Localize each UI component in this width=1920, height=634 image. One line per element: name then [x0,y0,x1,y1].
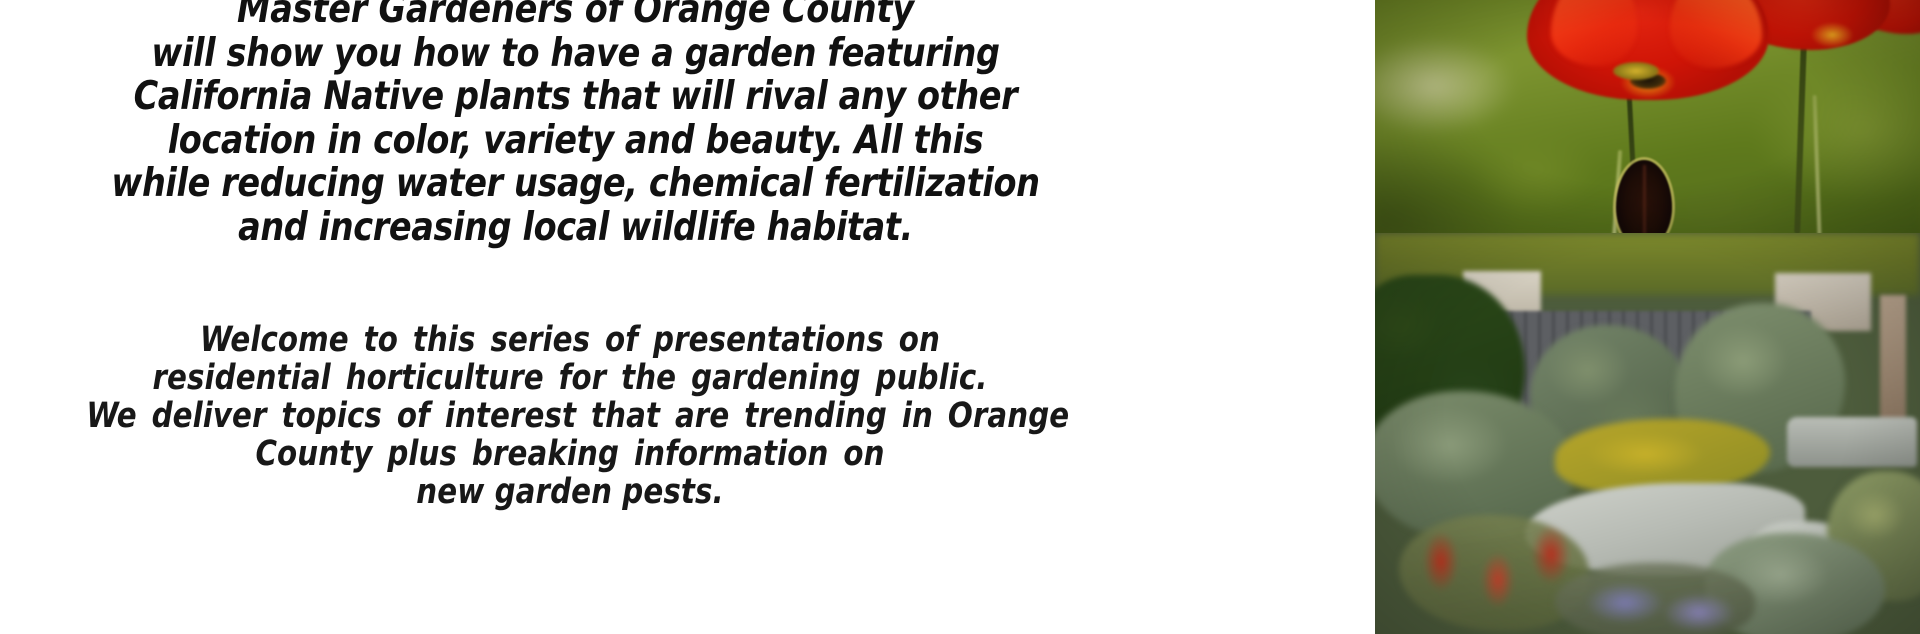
headline-line-4: location in color, variety and beauty. A… [62,119,1089,163]
headline-line-6: and increasing local wildlife habitat. [62,206,1089,250]
poppy-vignette [1375,0,1920,233]
slide-text-column: Master Gardeners of Orange County will s… [0,0,1130,634]
subtext-line-3: We deliver topics of interest that are t… [86,397,1053,435]
subtext-line-4: County plus breaking information on [86,435,1053,473]
headline-line-2: will show you how to have a garden featu… [62,32,1089,76]
subtext-block: Welcome to this series of presentations … [86,321,1053,511]
subtext-line-5: new garden pests. [86,473,1053,511]
garden-vignette [1375,233,1920,634]
presentation-slide: Master Gardeners of Orange County will s… [0,0,1920,634]
subtext-line-2: residential horticulture for the gardeni… [86,359,1053,397]
headline-block: Master Gardeners of Orange County will s… [62,0,1089,249]
red-poppies-photo [1375,0,1920,233]
headline-line-1: Master Gardeners of Orange County [62,0,1089,32]
subtext-line-1: Welcome to this series of presentations … [86,321,1053,359]
native-plant-garden-photo [1375,233,1920,634]
headline-line-5: while reducing water usage, chemical fer… [62,162,1089,206]
headline-line-3: California Native plants that will rival… [62,75,1089,119]
slide-image-column [1375,0,1920,634]
